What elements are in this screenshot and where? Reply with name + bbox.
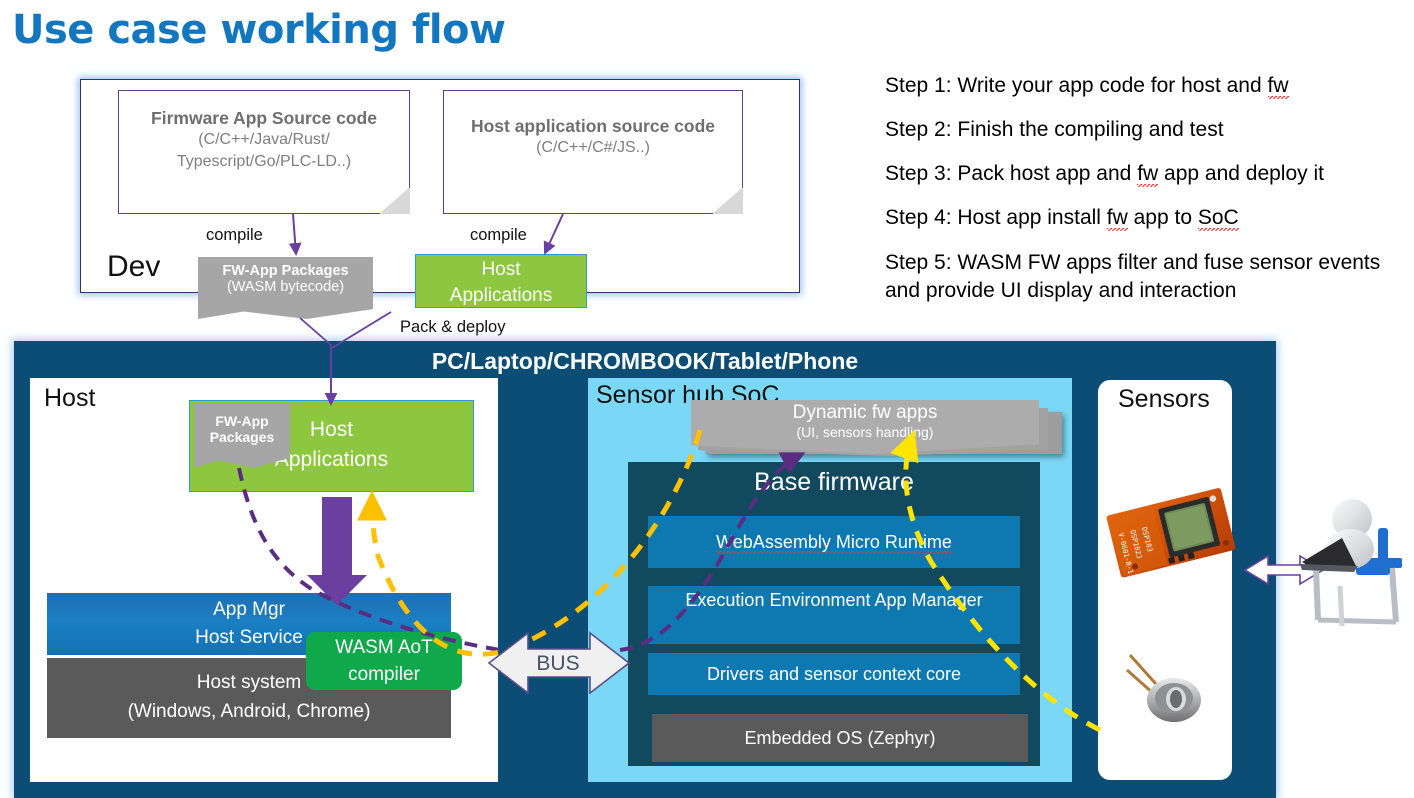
step-item: Step 2: Finish the compiling and test xyxy=(885,116,1405,144)
dynamic-fw-apps-box: Dynamic fw apps (UI, sensors handling) xyxy=(691,400,1039,454)
host-applications-line2: Applications xyxy=(416,283,586,309)
firmware-source-langs-2: Typescript/Go/PLC-LD..) xyxy=(119,151,409,173)
firmware-source-title: Firmware App Source code xyxy=(119,108,409,129)
firmware-source-langs-1: (C/C++/Java/Rust/ xyxy=(119,129,409,151)
wasm-aot-compiler-box: WASM AoT compiler xyxy=(306,632,462,690)
fw-package-line2: Packages xyxy=(194,429,290,445)
page-fold-icon xyxy=(712,187,743,214)
host-source-note: Host application source code (C/C++/C#/J… xyxy=(443,90,743,214)
page-fold-icon xyxy=(379,187,410,214)
host-source-title: Host application source code xyxy=(444,116,742,137)
layer-embedded-os: Embedded OS (Zephyr) xyxy=(652,714,1028,762)
fw-package-title: FW-App Packages xyxy=(198,263,373,279)
fw-package-subtitle: (WASM bytecode) xyxy=(198,279,373,295)
layer-wasm-micro-runtime: WebAssembly Micro Runtime xyxy=(648,516,1020,568)
step-item: Step 1: Write your app code for host and… xyxy=(885,72,1405,100)
pack-deploy-label: Pack & deploy xyxy=(400,318,505,337)
sensors-card xyxy=(1098,380,1232,780)
dynamic-apps-line2: (UI, sensors handling) xyxy=(691,424,1039,440)
step-item: Step 3: Pack host app and fw app and dep… xyxy=(885,160,1405,188)
layer-drivers-sensor-context: Drivers and sensor context core xyxy=(648,653,1020,695)
app-mgr-line1: App Mgr xyxy=(47,596,451,624)
host-source-langs: (C/C++/C#/JS..) xyxy=(444,137,742,159)
dynamic-apps-line1: Dynamic fw apps xyxy=(691,400,1039,424)
fw-app-package-dev: FW-App Packages (WASM bytecode) xyxy=(198,257,373,319)
user-at-desk-image xyxy=(1300,499,1402,626)
host-applications-dev: Host Applications xyxy=(415,254,587,308)
fw-package-line1: FW-App xyxy=(194,413,290,429)
aot-line2: compiler xyxy=(306,661,462,688)
compile-label-firmware: compile xyxy=(206,226,263,245)
host-applications-line1: Host xyxy=(416,257,586,283)
step-item: Step 5: WASM FW apps filter and fuse sen… xyxy=(885,249,1405,305)
steps-list: Step 1: Write your app code for host and… xyxy=(885,72,1405,321)
step-item: Step 4: Host app install fw app to SoC xyxy=(885,204,1405,232)
firmware-source-note: Firmware App Source code (C/C++/Java/Rus… xyxy=(118,90,410,214)
aot-line1: WASM AoT xyxy=(306,634,462,661)
compile-label-host: compile xyxy=(470,226,527,245)
page-title: Use case working flow xyxy=(12,2,652,58)
fw-app-package-host: FW-App Packages xyxy=(194,404,290,468)
host-label: Host xyxy=(44,384,95,413)
sensors-label: Sensors xyxy=(1118,385,1210,414)
base-firmware-title: Base firmware xyxy=(628,468,1040,497)
host-system-line2: (Windows, Android, Chrome) xyxy=(47,697,451,726)
layer-execution-env-app-manager: Execution Environment App Manager xyxy=(648,586,1020,644)
platform-title: PC/Laptop/CHROMBOOK/Tablet/Phone xyxy=(14,346,1276,376)
